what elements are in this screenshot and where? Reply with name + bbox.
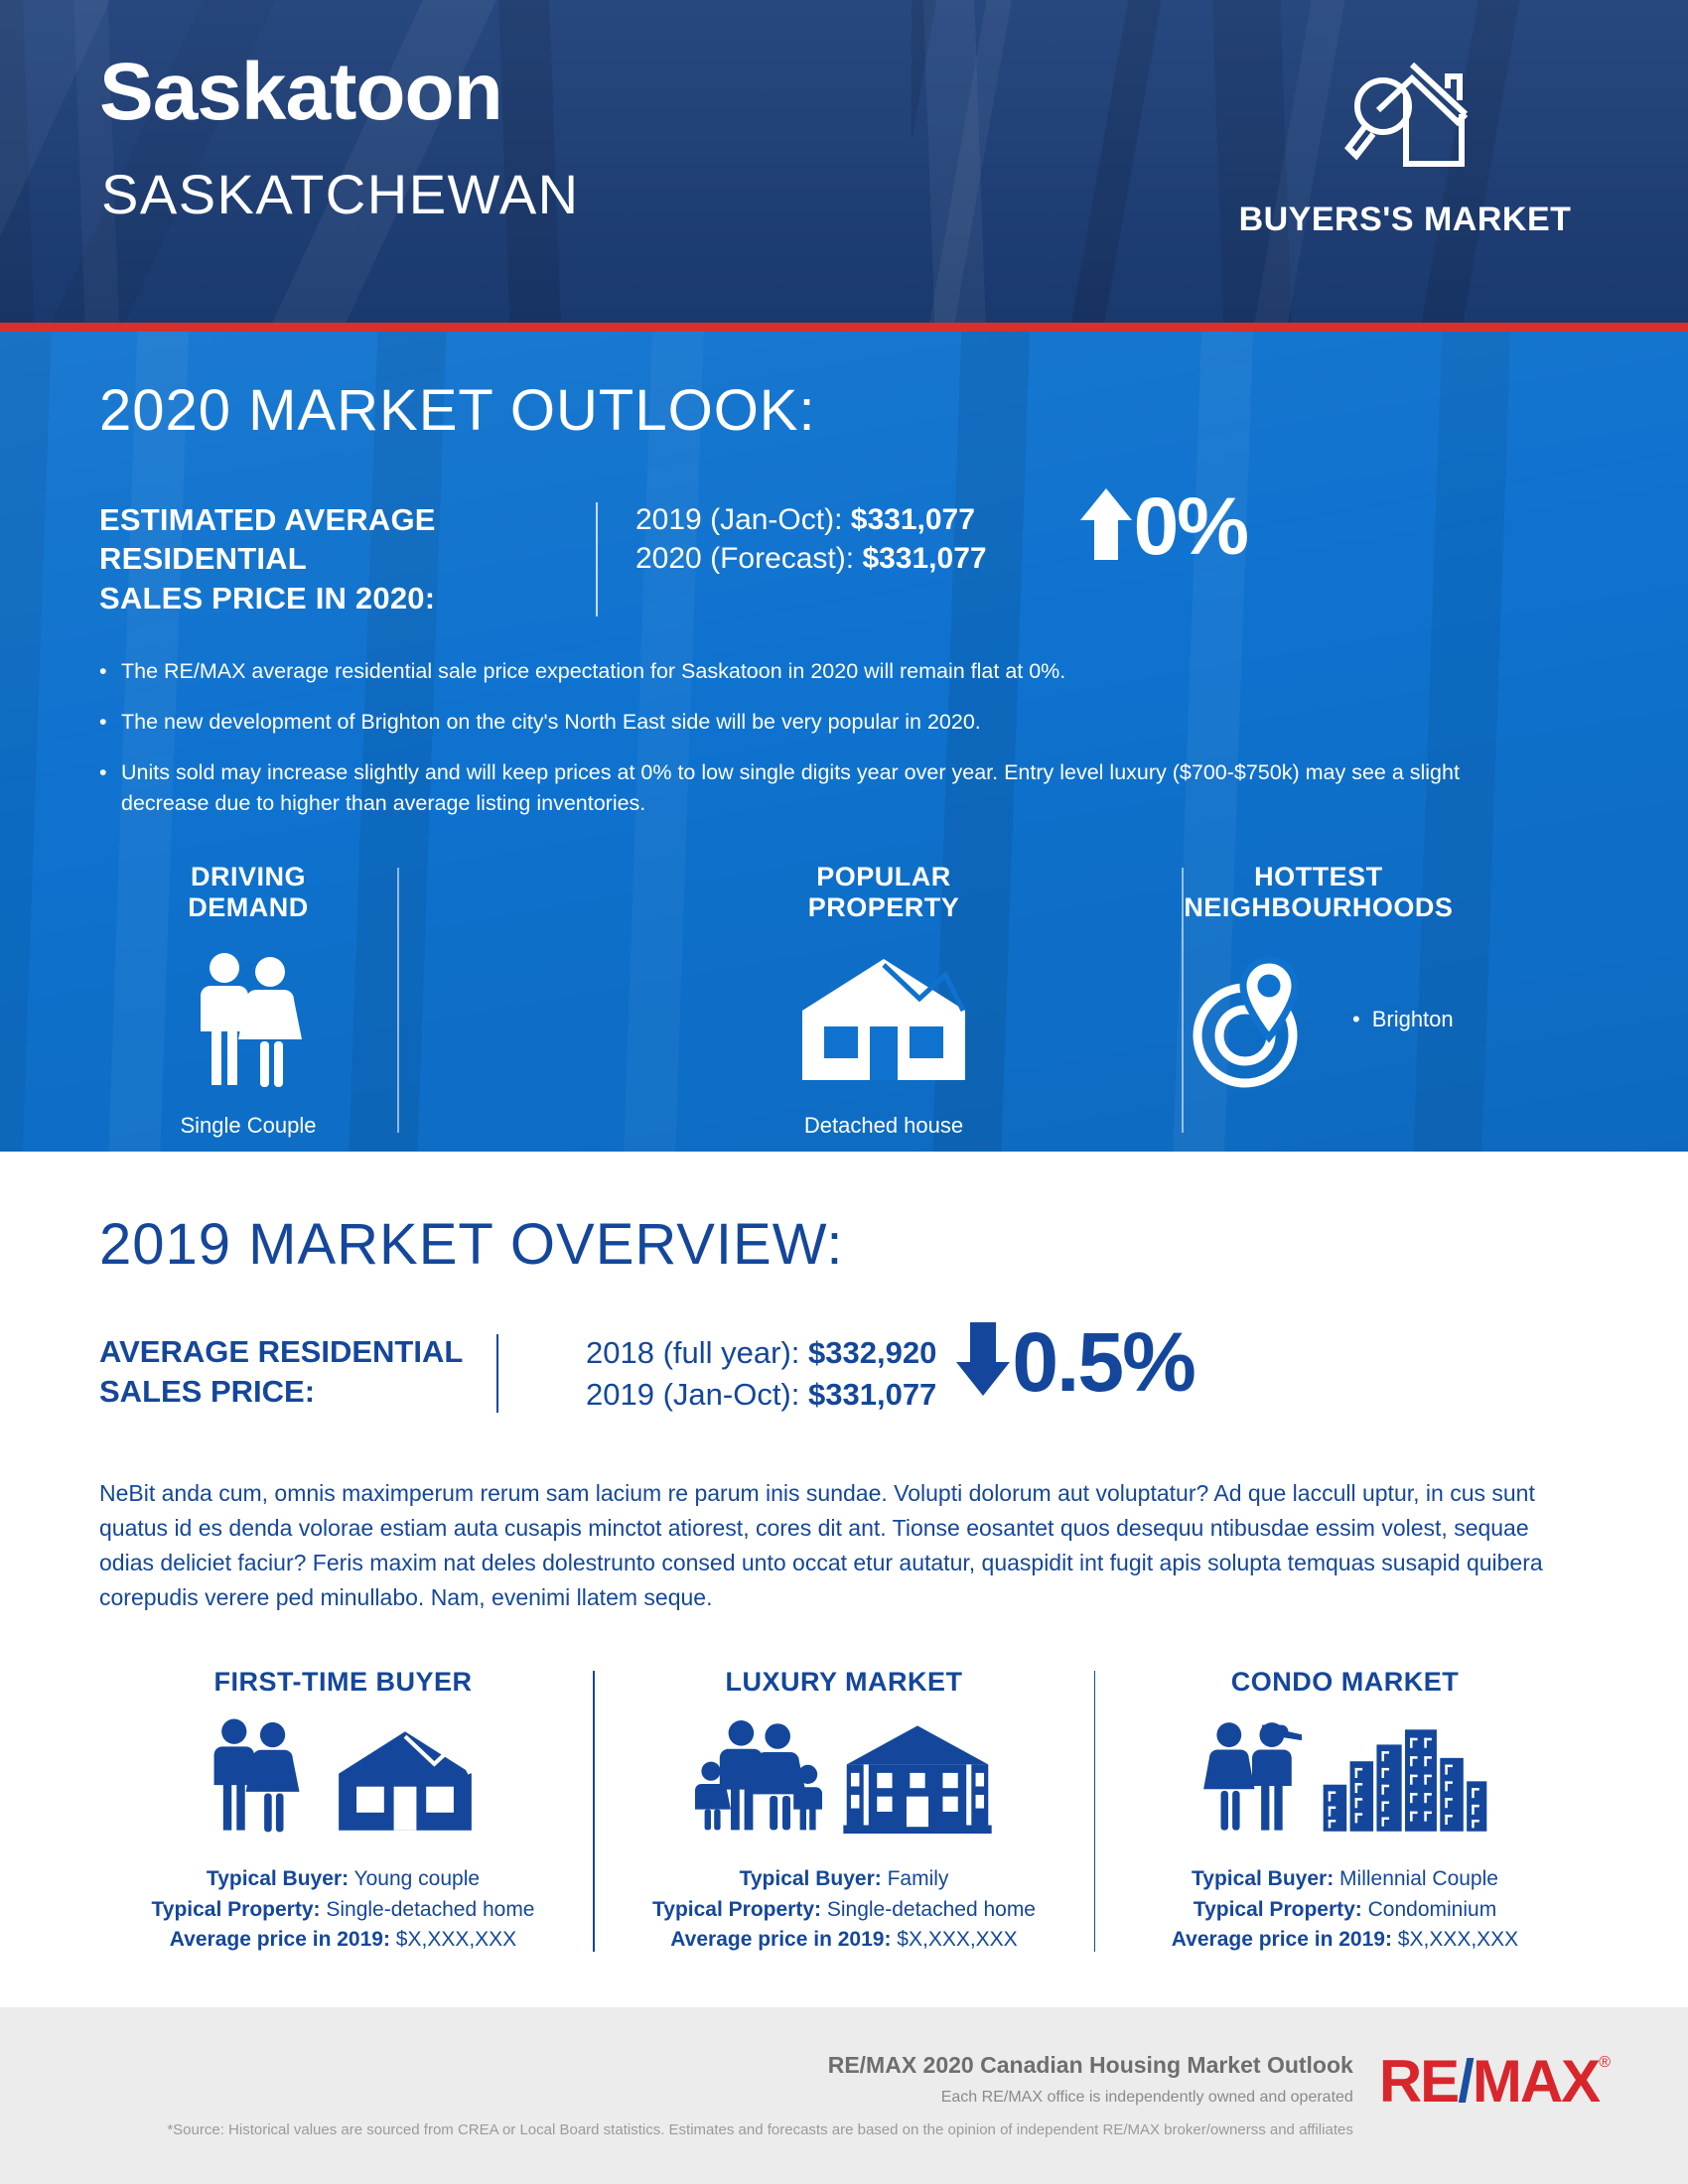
typical-property-line: Typical Property: Single-detached home (609, 1895, 1080, 1925)
overview-body-text: NeBit anda cum, omnis maximperum rerum s… (99, 1476, 1559, 1615)
typical-property-label: Typical Property: (152, 1898, 321, 1921)
outlook-value-label-1: 2020 (Forecast): (635, 542, 854, 575)
bullet-dot-icon: • (99, 656, 121, 687)
outlook-value-amount-0: $331,077 (851, 503, 975, 536)
outlook-panels: DRIVING DEMAND Single Couple POPULAR PRO… (99, 862, 1589, 1140)
overview-change-value: 0.5% (1012, 1320, 1194, 1404)
map-pin-target-icon (1184, 950, 1323, 1089)
millennial-couple-icon (1202, 1718, 1302, 1839)
footer-disclaimer: Each RE/MAX office is independently owne… (167, 2089, 1353, 2107)
typical-property-label: Typical Property: (1194, 1898, 1362, 1921)
remax-logo: RE / MAX ® (1379, 2052, 1611, 2112)
neighbourhood-list: Brighton (1352, 1007, 1454, 1032)
page-footer: RE/MAX 2020 Canadian Housing Market Outl… (0, 2007, 1688, 2184)
overview-value-label-1: 2019 (Jan-Oct): (586, 1377, 799, 1412)
footer-text-block: RE/MAX 2020 Canadian Housing Market Outl… (167, 2051, 1379, 2141)
footer-source-note: *Source: Historical values are sourced f… (167, 2119, 1353, 2140)
panel-luxury-market: LUXURY MARKET (601, 1667, 1088, 1955)
list-item: • Units sold may increase slightly and w… (99, 757, 1529, 819)
remax-logo-re: RE (1379, 2052, 1458, 2112)
typical-buyer-value: Young couple (354, 1867, 481, 1890)
overview-value-label-0: 2018 (full year): (586, 1335, 799, 1370)
outlook-price-row: ESTIMATED AVERAGE RESIDENTIAL SALES PRIC… (99, 500, 1589, 618)
list-item: • The new development of Brighton on the… (99, 707, 1529, 738)
panel-divider (593, 1671, 595, 1951)
panel-luxury-market-details: Typical Buyer: Family Typical Property: … (609, 1864, 1080, 1955)
panel-popular-property-title: POPULAR PROPERTY (586, 862, 1182, 925)
condo-towers-icon (1322, 1722, 1488, 1839)
detached-house-icon (586, 950, 1182, 1089)
overview-change-indicator: 0.5% (954, 1320, 1194, 1404)
outlook-bullet-text-2: Units sold may increase slightly and wil… (121, 757, 1529, 819)
overview-price-label-line1: AVERAGE RESIDENTIAL (99, 1332, 496, 1372)
overview-value-amount-1: $331,077 (808, 1377, 936, 1412)
market-type-label: BUYERS'S MARKET (1196, 201, 1614, 239)
panel-hottest-neighbourhoods-title: HOTTEST NEIGHBOURHOODS (1184, 862, 1454, 925)
outlook-price-values: 2019 (Jan-Oct): $331,077 2020 (Forecast)… (635, 500, 987, 579)
panel-hottest-neighbourhoods: HOTTEST NEIGHBOURHOODS Brighton (1184, 862, 1454, 1140)
average-price-line: Average price in 2019: $X,XXX,XXX (609, 1925, 1080, 1955)
remax-logo-max: MAX (1473, 2052, 1599, 2112)
panel-popular-property: POPULAR PROPERTY Detached house (586, 862, 1182, 1140)
overview-segment-panels: FIRST-TIME BUYER (99, 1667, 1589, 1955)
average-price-label: Average price in 2019: (670, 1928, 891, 1951)
panel-divider (1094, 1671, 1096, 1951)
outlook-change-value: 0% (1134, 486, 1248, 568)
overview-price-values: 2018 (full year): $332,920 2019 (Jan-Oct… (586, 1332, 936, 1416)
outlook-price-label-line1: ESTIMATED AVERAGE RESIDENTIAL (99, 500, 596, 579)
panel-first-time-buyer-title: FIRST-TIME BUYER (107, 1667, 579, 1698)
outlook-value-amount-1: $331,077 (862, 542, 986, 575)
city-name: Saskatoon (99, 52, 502, 133)
outlook-value-label-0: 2019 (Jan-Oct): (635, 503, 842, 536)
panel-driving-demand-caption: Single Couple (99, 1113, 397, 1139)
average-price-line: Average price in 2019: $X,XXX,XXX (107, 1925, 579, 1955)
bullet-dot-icon: • (99, 757, 121, 819)
couple-icon (99, 950, 397, 1089)
arrow-down-icon (954, 1320, 1012, 1403)
outlook-bullet-text-0: The RE/MAX average residential sale pric… (121, 656, 1065, 687)
typical-buyer-label: Typical Buyer: (207, 1867, 349, 1890)
outlook-price-label-line2: SALES PRICE IN 2020: (99, 579, 596, 618)
outlook-bullet-text-1: The new development of Brighton on the c… (121, 707, 981, 738)
typical-property-line: Typical Property: Condominium (1109, 1895, 1581, 1925)
overview-price-label: AVERAGE RESIDENTIAL SALES PRICE: (99, 1332, 496, 1413)
typical-buyer-line: Typical Buyer: Young couple (107, 1864, 579, 1894)
typical-buyer-line: Typical Buyer: Millennial Couple (1109, 1864, 1581, 1894)
list-item: Brighton (1352, 1007, 1454, 1032)
panel-driving-demand: DRIVING DEMAND Single Couple (99, 862, 397, 1140)
typical-buyer-label: Typical Buyer: (740, 1867, 882, 1890)
typical-property-line: Typical Property: Single-detached home (107, 1895, 579, 1925)
overview-price-row: AVERAGE RESIDENTIAL SALES PRICE: 2018 (f… (99, 1332, 1589, 1416)
red-divider-bar (0, 323, 1688, 332)
province-name: SASKATCHEWAN (101, 167, 580, 222)
typical-buyer-line: Typical Buyer: Family (609, 1864, 1080, 1894)
average-price-value: $X,XXX,XXX (1398, 1928, 1518, 1951)
outlook-value-row-1: 2020 (Forecast): $331,077 (635, 539, 987, 579)
average-price-value: $X,XXX,XXX (897, 1928, 1017, 1951)
panel-first-time-buyer-details: Typical Buyer: Young couple Typical Prop… (107, 1864, 579, 1955)
panel-divider (397, 868, 399, 1134)
typical-buyer-label: Typical Buyer: (1192, 1867, 1334, 1890)
average-price-line: Average price in 2019: $X,XXX,XXX (1109, 1925, 1581, 1955)
typical-property-label: Typical Property: (652, 1898, 821, 1921)
panel-luxury-market-title: LUXURY MARKET (609, 1667, 1080, 1698)
outlook-price-label: ESTIMATED AVERAGE RESIDENTIAL SALES PRIC… (99, 500, 596, 618)
typical-buyer-value: Millennial Couple (1339, 1867, 1498, 1890)
family-icon (695, 1718, 822, 1839)
average-price-value: $X,XXX,XXX (396, 1928, 516, 1951)
overview-value-row-0: 2018 (full year): $332,920 (586, 1332, 936, 1374)
list-item: • The RE/MAX average residential sale pr… (99, 656, 1529, 687)
panel-first-time-buyer: FIRST-TIME BUYER (99, 1667, 587, 1955)
outlook-bullet-list: • The RE/MAX average residential sale pr… (99, 656, 1589, 820)
overview-title: 2019 MARKET OVERVIEW: (99, 1213, 1589, 1277)
couple-icon (203, 1716, 306, 1839)
outlook-section: 2020 MARKET OUTLOOK: ESTIMATED AVERAGE R… (0, 332, 1688, 1152)
outlook-value-row-0: 2019 (Jan-Oct): $331,077 (635, 500, 987, 540)
typical-property-value: Single-detached home (827, 1898, 1036, 1921)
panel-driving-demand-title: DRIVING DEMAND (99, 862, 397, 925)
overview-price-label-line2: SALES PRICE: (99, 1372, 496, 1412)
remax-logo-slash: / (1458, 2052, 1473, 2112)
typical-property-value: Single-detached home (326, 1898, 534, 1921)
overview-section: 2019 MARKET OVERVIEW: AVERAGE RESIDENTIA… (0, 1152, 1688, 1956)
two-storey-house-icon (842, 1722, 993, 1839)
typical-buyer-value: Family (888, 1867, 949, 1890)
arrow-up-icon (1078, 486, 1134, 567)
average-price-label: Average price in 2019: (170, 1928, 390, 1951)
panel-condo-market-title: CONDO MARKET (1109, 1667, 1581, 1698)
footer-title: RE/MAX 2020 Canadian Housing Market Outl… (167, 2051, 1353, 2081)
outlook-vertical-divider (596, 502, 598, 616)
page-header: Saskatoon SASKATCHEWAN BUYERS'S MARKET (0, 0, 1688, 323)
overview-vertical-divider (496, 1334, 498, 1414)
panel-condo-market: CONDO MARKET (1101, 1667, 1589, 1955)
market-type-badge: BUYERS'S MARKET (1196, 55, 1614, 239)
overview-value-row-1: 2019 (Jan-Oct): $331,077 (586, 1374, 936, 1416)
magnifier-house-icon (1196, 55, 1614, 187)
panel-popular-property-caption: Detached house (586, 1113, 1182, 1139)
outlook-title: 2020 MARKET OUTLOOK: (99, 379, 1589, 443)
overview-value-amount-0: $332,920 (808, 1335, 936, 1370)
bullet-dot-icon: • (99, 707, 121, 738)
panel-condo-market-details: Typical Buyer: Millennial Couple Typical… (1109, 1864, 1581, 1955)
typical-property-value: Condominium (1368, 1898, 1497, 1921)
registered-trademark-icon: ® (1599, 2054, 1611, 2072)
outlook-change-indicator: 0% (1078, 486, 1248, 568)
average-price-label: Average price in 2019: (1172, 1928, 1392, 1951)
bungalow-icon (326, 1728, 485, 1839)
